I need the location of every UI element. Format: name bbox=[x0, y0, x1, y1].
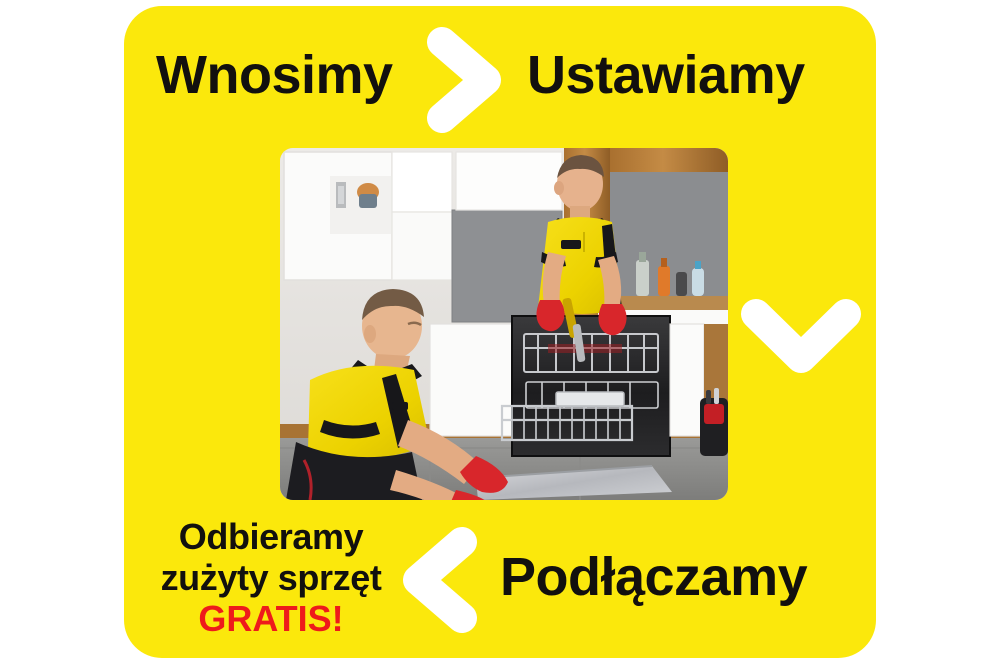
promo-banner: Wnosimy Ustawiamy bbox=[0, 0, 1000, 671]
step-label-podlaczamy: Podłączamy bbox=[500, 546, 807, 608]
offer-line-zuzyty-sprzet: zużyty sprzęt bbox=[145, 560, 397, 596]
offer-line-gratis: GRATIS! bbox=[145, 601, 397, 637]
installation-photo bbox=[280, 148, 728, 500]
step-label-wnosimy: Wnosimy bbox=[156, 44, 393, 106]
chevron-right-icon bbox=[424, 24, 506, 136]
step-label-ustawiamy: Ustawiamy bbox=[527, 44, 805, 106]
chevron-down-icon bbox=[738, 296, 864, 378]
chevron-left-icon bbox=[400, 524, 482, 636]
free-pickup-offer: Odbieramy zużyty sprzęt GRATIS! bbox=[145, 519, 397, 637]
offer-line-odbieramy: Odbieramy bbox=[145, 519, 397, 555]
